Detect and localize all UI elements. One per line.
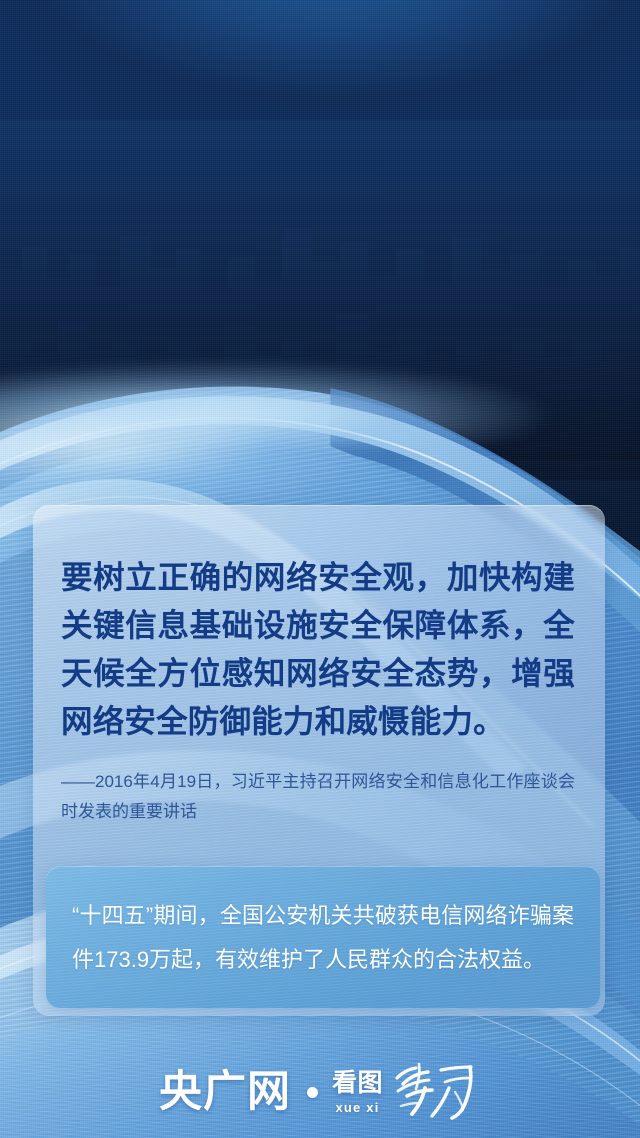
poster-content: 要树立正确的网络安全观，加快构建关键信息基础设施安全保障体系，全天候全方位感知网… — [0, 0, 640, 1138]
column-label-group: 看图 xue xi — [332, 1070, 383, 1114]
statistic-callout-box: “十四五”期间，全国公安机关共破获电信网络诈骗案件173.9万起，有效维护了人民… — [46, 866, 600, 1008]
dot-separator-icon — [307, 1087, 318, 1098]
statistic-callout-text: “十四五”期间，全国公安机关共破获电信网络诈骗案件173.9万起，有效维护了人民… — [46, 866, 600, 982]
column-label: 看图 — [332, 1070, 383, 1095]
quote-card-inner: 要树立正确的网络安全观，加快构建关键信息基础设施安全保障体系，全天候全方位感知网… — [33, 505, 605, 827]
brand-name: 央广网 — [159, 1071, 291, 1114]
quote-text: 要树立正确的网络安全观，加快构建关键信息基础设施安全保障体系，全天候全方位感知网… — [61, 553, 575, 745]
footer-logo: 央广网 看图 xue xi — [0, 1056, 640, 1128]
xuexi-calligraphy-icon — [389, 1058, 481, 1120]
poster-root: 要树立正确的网络安全观，加快构建关键信息基础设施安全保障体系，全天候全方位感知网… — [0, 0, 640, 1138]
quote-attribution: ——2016年4月19日，习近平主持召开网络安全和信息化工作座谈会时发表的重要讲… — [61, 767, 575, 827]
column-pinyin: xue xi — [335, 1101, 379, 1114]
